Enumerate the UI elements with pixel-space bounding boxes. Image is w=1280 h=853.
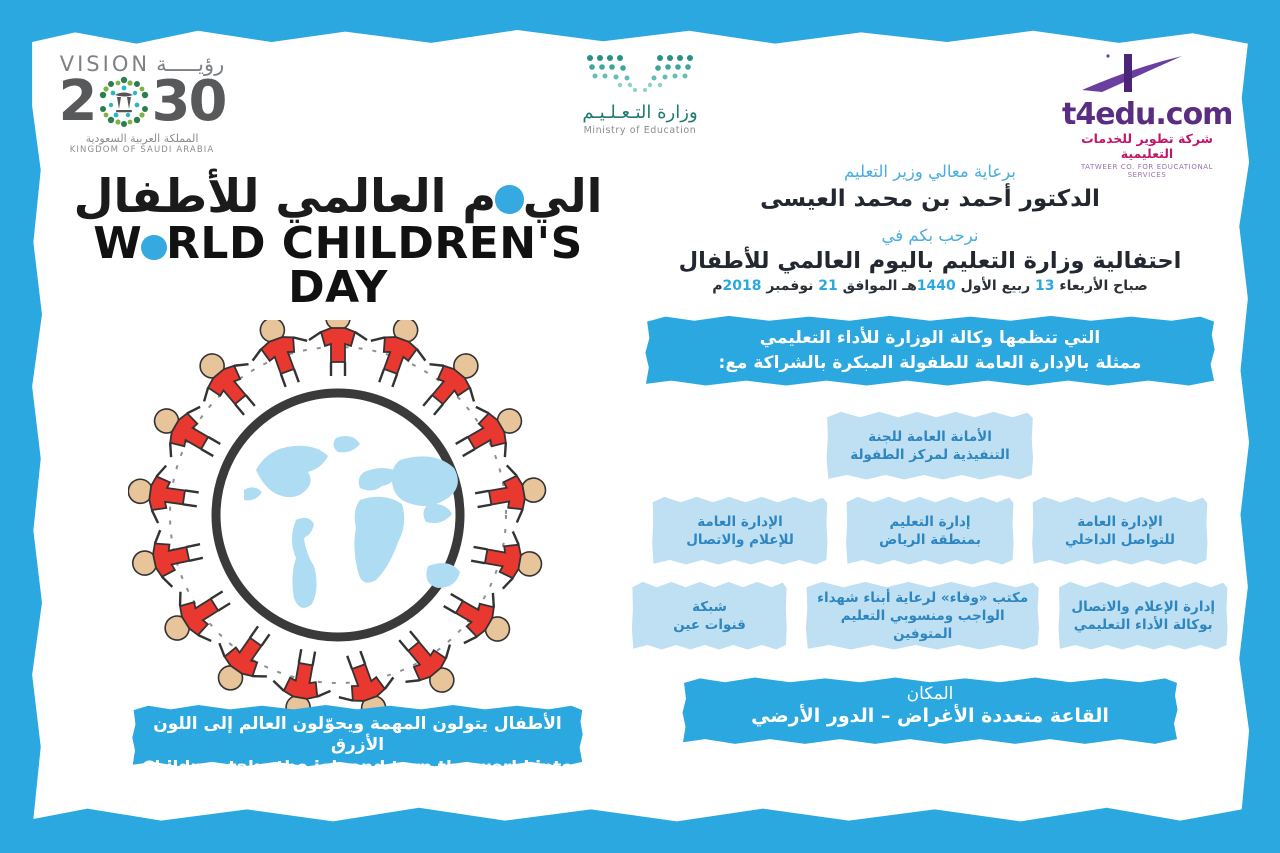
title-ar-part1: الي [523,169,603,223]
date-hijri-day: 13 [1035,278,1054,294]
organizer-banner: التي تنظمها وكالة الوزارة للأداء التعليم… [643,310,1218,392]
right-column: برعاية معالي وزير التعليم الدكتور أحمد ب… [630,160,1230,750]
poster-title-arabic: اليم العالمي للأطفال [58,172,618,220]
globe-illustration: .head{fill:#E8C49A;stroke:#333;stroke-wi… [128,320,548,710]
left-column: اليم العالمي للأطفال WRLD CHILDREN'S DAY [58,172,618,710]
partner-line-2: بمنطقة الرياض [879,532,981,548]
partner-box[interactable]: إدارة الإعلام والاتصال بوكالة الأداء الت… [1056,578,1230,654]
partner-line-1: مكتب «وفاء» لرعاية أبناء شهداء [817,590,1028,606]
partner-line-2: قنوات عين [673,617,746,633]
partner-box[interactable]: مكتب «وفاء» لرعاية أبناء شهداء الواجب وم… [803,578,1042,654]
vision-digit-2: 2 [59,74,96,130]
date-p2: ربيع الأول [956,278,1035,294]
patron-label: برعاية معالي وزير التعليم [630,160,1230,183]
partner-line-1: إدارة الإعلام والاتصال [1071,599,1215,615]
partners-row-2: الإدارة العامة للتواصل الداخلي إدارة الت… [630,493,1230,569]
moe-name-en: Ministry of Education [525,125,755,136]
partner-line-1: الأمانة العامة للجنة [868,429,992,445]
partner-line-1: الإدارة العامة [1077,514,1163,530]
event-date: صباح الأربعاء 13 ربيع الأول 1440هـ الموا… [630,278,1230,294]
partners-row-1: الأمانة العامة للجنة التنفيذية لمركز الط… [630,408,1230,484]
date-p1: صباح الأربعاء [1055,278,1148,294]
date-greg-year: 2018 [723,278,762,294]
venue-label: المكان [680,684,1180,704]
partner-line-1: إدارة التعليم [889,514,970,530]
tatweer-name-ar: شركة تطوير للخدمات التعليمية [1062,131,1232,161]
partners-row-3: إدارة الإعلام والاتصال بوكالة الأداء الت… [630,578,1230,654]
partner-line-1: شبكة [692,599,727,615]
venue-banner: المكان القاعة متعددة الأغراض – الدور الأ… [680,672,1180,750]
date-p3: هـ الموافق [838,278,917,294]
organizer-line-1: التي تنظمها وكالة الوزارة للأداء التعليم… [643,326,1218,351]
blue-circle-icon-ar [495,185,524,214]
date-p5: م [712,278,722,294]
partner-line-2: للإعلام والاتصال [686,532,794,548]
moe-name-ar: وزارة التـعـلـيـم [525,102,755,123]
partner-box[interactable]: الإدارة العامة للإعلام والاتصال [650,493,830,569]
partner-line-1: الإدارة العامة [697,514,783,530]
venue-value: القاعة متعددة الأغراض – الدور الأرضي [680,705,1180,727]
tagline-banner: الأطفال يتولون المهمة ويحوّلون العالم إل… [130,700,585,772]
tagline-arabic: الأطفال يتولون المهمة ويحوّلون العالم إل… [130,714,585,757]
poster-title-english: WRLD CHILDREN'S DAY [58,222,618,310]
partner-box[interactable]: إدارة التعليم بمنطقة الرياض [844,493,1016,569]
date-greg-day: 21 [818,278,837,294]
title-en-part2: RLD CHILDREN'S DAY [166,218,583,313]
partner-box[interactable]: الإدارة العامة للتواصل الداخلي [1030,493,1210,569]
welcome-label: نرحب بكم في [630,226,1230,245]
vision-digit-30: 30 [152,74,226,130]
organizer-line-2: ممثلة بالإدارة العامة للطفولة المبكرة با… [643,351,1218,376]
blue-circle-icon-en [141,235,167,261]
event-title: احتفالية وزارة التعليم باليوم العالمي لل… [630,248,1230,274]
ministry-of-education-logo: وزارة التـعـلـيـم Ministry of Education [525,52,755,136]
vision-year: 2 [52,74,232,130]
partner-box[interactable]: الأمانة العامة للجنة التنفيذية لمركز الط… [824,408,1036,484]
partner-line-2: للتواصل الداخلي [1065,532,1175,548]
partner-box[interactable]: شبكة قنوات عين [630,578,789,654]
partners-list: الأمانة العامة للجنة التنفيذية لمركز الط… [630,408,1230,654]
partner-line-2: التنفيذية لمركز الطفولة [850,447,1009,463]
partner-line-2: بوكالة الأداء التعليمي [1074,617,1213,633]
vision-2030-logo: VISION رؤيـــــة 2 [52,52,232,155]
date-p4: نوفمبر [761,278,818,294]
minister-name: الدكتور أحمد بن محمد العيسى [630,186,1230,212]
moe-dots-icon [580,79,700,98]
title-en-part1: W [93,218,142,269]
tatweer-wordmark: t4edu.com [1062,100,1232,130]
saudi-emblem-icon [97,75,151,129]
vision-subtitle-en: KINGDOM OF SAUDI ARABIA [52,145,232,155]
tagline-english: Children take the job and turn the world… [130,758,585,801]
date-hijri-year: 1440 [917,278,956,294]
partner-line-2: الواجب ومنسوبي التعليم المتوفين [841,608,1005,642]
poster-root: VISION رؤيـــــة 2 [0,0,1280,853]
title-ar-part2: م العالمي للأطفال [74,169,497,223]
